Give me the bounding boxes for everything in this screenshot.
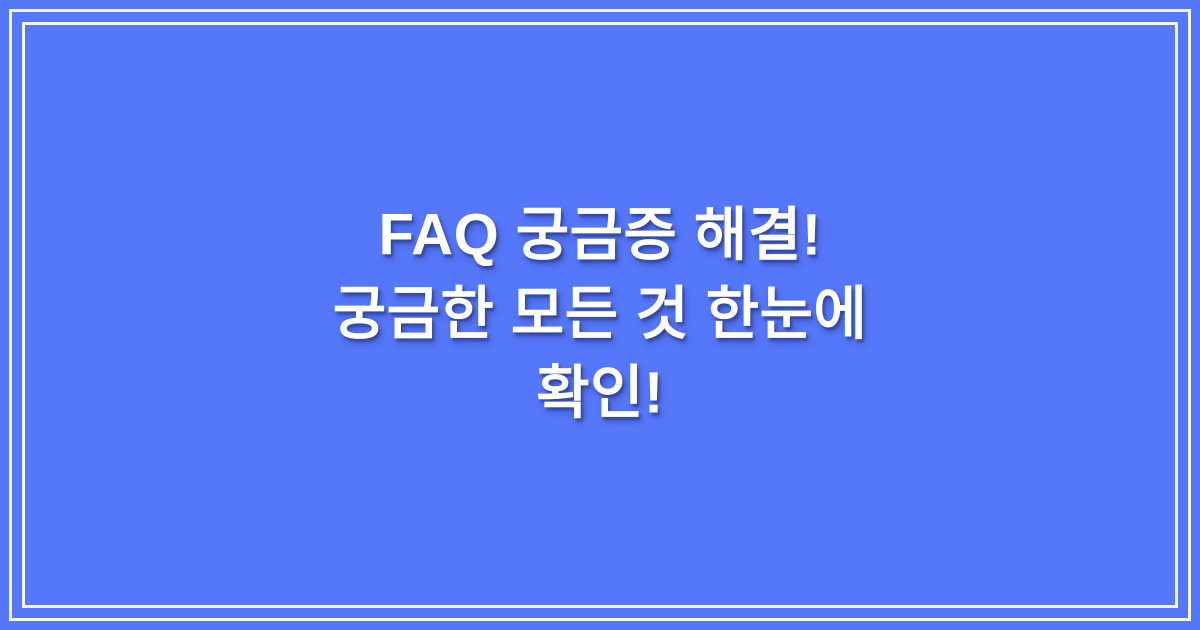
faq-banner: FAQ 궁금증 해결! 궁금한 모든 것 한눈에 확인! [0,0,1200,630]
headline-line-2: 궁금한 모든 것 한눈에 [70,276,1130,355]
banner-headline: FAQ 궁금증 해결! 궁금한 모든 것 한눈에 확인! [0,197,1200,434]
headline-line-3: 확인! [70,354,1130,433]
headline-line-1: FAQ 궁금증 해결! [70,197,1130,276]
